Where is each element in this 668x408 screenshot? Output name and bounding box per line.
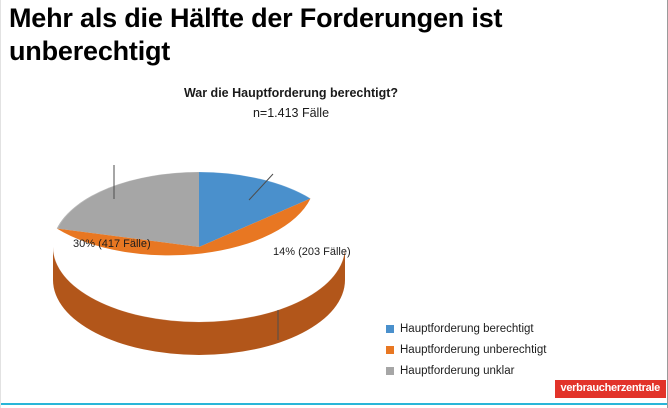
- pie-depth-orange: [53, 247, 345, 355]
- data-label-unklar: 30% (417 Fälle): [73, 238, 151, 250]
- page-title: Mehr als die Hälfte der Forderungen ist …: [9, 2, 629, 69]
- legend-label: Hauptforderung unklar: [400, 365, 514, 377]
- legend-swatch-icon: [386, 325, 394, 333]
- chart-legend: Hauptforderung berechtigt Hauptforderung…: [386, 318, 648, 381]
- legend-label: Hauptforderung unberechtigt: [400, 344, 546, 356]
- verbraucherzentrale-logo: verbraucherzentrale: [555, 380, 666, 398]
- legend-item-unklar[interactable]: Hauptforderung unklar: [386, 360, 648, 381]
- footer-rule: [1, 403, 668, 405]
- chart-title: War die Hauptforderung berechtigt?: [1, 86, 581, 100]
- legend-swatch-icon: [386, 367, 394, 375]
- slide-canvas: Mehr als die Hälfte der Forderungen ist …: [0, 0, 668, 408]
- legend-item-berechtigt[interactable]: Hauptforderung berechtigt: [386, 318, 648, 339]
- pie-chart: War die Hauptforderung berechtigt? n=1.4…: [1, 86, 668, 386]
- legend-item-unberechtigt[interactable]: Hauptforderung unberechtigt: [386, 339, 648, 360]
- legend-label: Hauptforderung berechtigt: [400, 323, 534, 335]
- data-label-berechtigt: 14% (203 Fälle): [273, 246, 351, 258]
- chart-subtitle: n=1.413 Fälle: [1, 106, 581, 120]
- legend-swatch-icon: [386, 346, 394, 354]
